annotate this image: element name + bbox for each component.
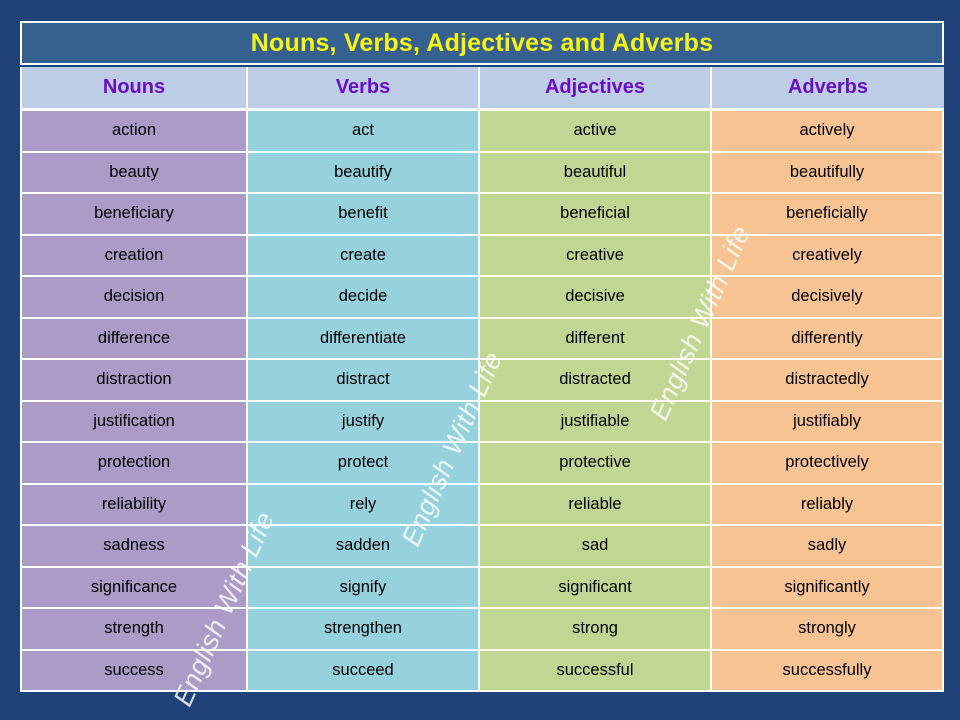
cell-verb: succeed bbox=[248, 651, 480, 693]
word-forms-table: Nouns Verbs Adjectives Adverbs action ac… bbox=[20, 67, 944, 694]
cell-noun: significance bbox=[20, 568, 248, 610]
cell-adjective: decisive bbox=[480, 277, 712, 319]
table-row: significance signify significant signifi… bbox=[20, 568, 944, 610]
table-row: difference differentiate different diffe… bbox=[20, 319, 944, 361]
cell-adjective: successful bbox=[480, 651, 712, 693]
cell-adverb: successfully bbox=[712, 651, 944, 693]
cell-noun: difference bbox=[20, 319, 248, 361]
cell-adverb: protectively bbox=[712, 443, 944, 485]
cell-adjective: reliable bbox=[480, 485, 712, 527]
cell-adverb: differently bbox=[712, 319, 944, 361]
cell-verb: distract bbox=[248, 360, 480, 402]
table-header-row: Nouns Verbs Adjectives Adverbs bbox=[20, 67, 944, 111]
cell-adverb: creatively bbox=[712, 236, 944, 278]
column-header-nouns: Nouns bbox=[20, 67, 248, 111]
table-row: beauty beautify beautiful beautifully bbox=[20, 153, 944, 195]
cell-noun: distraction bbox=[20, 360, 248, 402]
cell-adjective: justifiable bbox=[480, 402, 712, 444]
cell-noun: creation bbox=[20, 236, 248, 278]
cell-verb: rely bbox=[248, 485, 480, 527]
cell-adverb: beautifully bbox=[712, 153, 944, 195]
cell-noun: strength bbox=[20, 609, 248, 651]
column-header-verbs: Verbs bbox=[248, 67, 480, 111]
cell-adverb: justifiably bbox=[712, 402, 944, 444]
table-row: protection protect protective protective… bbox=[20, 443, 944, 485]
table-row: action act active actively bbox=[20, 111, 944, 153]
cell-verb: protect bbox=[248, 443, 480, 485]
slide-canvas: Nouns, Verbs, Adjectives and Adverbs Nou… bbox=[0, 0, 960, 720]
title-bar: Nouns, Verbs, Adjectives and Adverbs bbox=[20, 21, 944, 65]
cell-adverb: reliably bbox=[712, 485, 944, 527]
table-row: sadness sadden sad sadly bbox=[20, 526, 944, 568]
cell-verb: beautify bbox=[248, 153, 480, 195]
cell-adverb: actively bbox=[712, 111, 944, 153]
cell-verb: act bbox=[248, 111, 480, 153]
cell-adjective: beautiful bbox=[480, 153, 712, 195]
cell-adverb: distractedly bbox=[712, 360, 944, 402]
table-row: success succeed successful successfully bbox=[20, 651, 944, 693]
table-row: beneficiary benefit beneficial beneficia… bbox=[20, 194, 944, 236]
cell-noun: protection bbox=[20, 443, 248, 485]
table-row: distraction distract distracted distract… bbox=[20, 360, 944, 402]
table-row: justification justify justifiable justif… bbox=[20, 402, 944, 444]
cell-noun: beauty bbox=[20, 153, 248, 195]
cell-noun: beneficiary bbox=[20, 194, 248, 236]
cell-verb: decide bbox=[248, 277, 480, 319]
cell-adverb: decisively bbox=[712, 277, 944, 319]
cell-noun: decision bbox=[20, 277, 248, 319]
cell-noun: action bbox=[20, 111, 248, 153]
cell-verb: benefit bbox=[248, 194, 480, 236]
cell-adjective: beneficial bbox=[480, 194, 712, 236]
cell-adjective: distracted bbox=[480, 360, 712, 402]
table-row: creation create creative creatively bbox=[20, 236, 944, 278]
cell-verb: justify bbox=[248, 402, 480, 444]
cell-adverb: beneficially bbox=[712, 194, 944, 236]
cell-adjective: active bbox=[480, 111, 712, 153]
cell-noun: justification bbox=[20, 402, 248, 444]
cell-noun: success bbox=[20, 651, 248, 693]
cell-adverb: strongly bbox=[712, 609, 944, 651]
cell-adjective: different bbox=[480, 319, 712, 361]
column-header-adverbs: Adverbs bbox=[712, 67, 944, 111]
table-row: reliability rely reliable reliably bbox=[20, 485, 944, 527]
cell-verb: differentiate bbox=[248, 319, 480, 361]
cell-adjective: creative bbox=[480, 236, 712, 278]
cell-noun: sadness bbox=[20, 526, 248, 568]
cell-adjective: sad bbox=[480, 526, 712, 568]
table-row: decision decide decisive decisively bbox=[20, 277, 944, 319]
cell-verb: sadden bbox=[248, 526, 480, 568]
cell-adverb: sadly bbox=[712, 526, 944, 568]
cell-adjective: protective bbox=[480, 443, 712, 485]
cell-adjective: strong bbox=[480, 609, 712, 651]
page-title: Nouns, Verbs, Adjectives and Adverbs bbox=[251, 29, 713, 58]
cell-noun: reliability bbox=[20, 485, 248, 527]
cell-adverb: significantly bbox=[712, 568, 944, 610]
cell-verb: signify bbox=[248, 568, 480, 610]
cell-verb: create bbox=[248, 236, 480, 278]
column-header-adjectives: Adjectives bbox=[480, 67, 712, 111]
cell-adjective: significant bbox=[480, 568, 712, 610]
cell-verb: strengthen bbox=[248, 609, 480, 651]
table-row: strength strengthen strong strongly bbox=[20, 609, 944, 651]
